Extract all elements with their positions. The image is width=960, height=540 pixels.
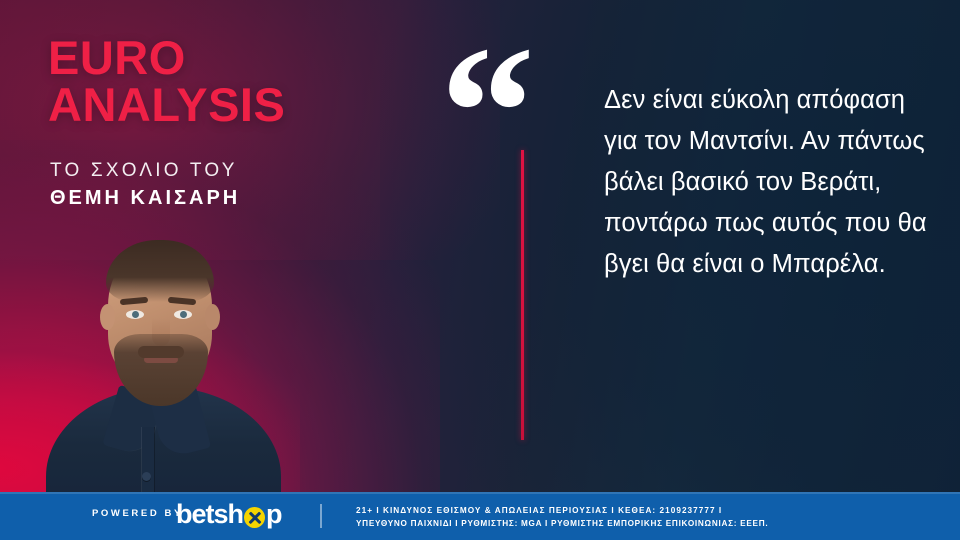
betshop-logo-text-end: p [266,499,282,530]
headline-block: EURO ANALYSIS [48,36,285,127]
headline-line-euro: EURO [48,36,285,81]
portrait-ear-left [100,304,115,330]
portrait-pupil-left [132,311,139,318]
footer-divider [320,504,322,528]
subtitle-line-1: ΤΟ ΣΧΟΛΙΟ ΤΟΥ [50,160,240,182]
vertical-accent-rule [521,150,524,440]
footer-top-edge [0,492,960,494]
subtitle-line-2: ΘΕΜΗ ΚΑΙΣΑΡΗ [50,187,240,210]
quote-text: Δεν είναι εύκολη απόφαση για τον Μαντσίν… [604,80,934,285]
subtitle-block: ΤΟ ΣΧΟΛΙΟ ΤΟΥ ΘΕΜΗ ΚΑΙΣΑΡΗ [50,160,240,210]
presenter-portrait [36,222,288,492]
headline-line-analysis: ANALYSIS [48,83,285,128]
powered-by-label: POWERED BY [92,508,183,519]
euro-analysis-quote-card: EURO ANALYSIS ΤΟ ΣΧΟΛΙΟ ΤΟΥ ΘΕΜΗ ΚΑΙΣΑΡΗ… [0,0,960,540]
disclaimer-line-2: ΥΠΕΥΘΥΝΟ ΠΑΙΧΝΙΔΙ Ι ΡΥΘΜΙΣΤΗΣ: MGA Ι ΡΥΘ… [356,517,768,530]
portrait-shirt-placket [142,427,154,492]
betshop-logo-text-start: betsh [176,499,243,530]
disclaimer-line-1: 21+ Ι ΚΙΝΔΥΝΟΣ ΕΘΙΣΜΟΥ & ΑΠΩΛΕΙΑΣ ΠΕΡΙΟΥ… [356,504,768,517]
regulatory-disclaimer: 21+ Ι ΚΙΝΔΥΝΟΣ ΕΘΙΣΜΟΥ & ΑΠΩΛΕΙΑΣ ΠΕΡΙΟΥ… [356,504,768,530]
portrait-shirt-button [142,472,151,481]
portrait-ear-right [205,304,220,330]
portrait-moustache [138,346,184,358]
footer-bar: POWERED BY betsh p 21+ Ι ΚΙΝΔΥΝΟΣ ΕΘΙΣΜΟ… [0,492,960,540]
x-circle-icon [244,507,265,528]
quote-mark-icon: “ [440,18,529,208]
portrait-hair [106,240,214,302]
betshop-logo[interactable]: betsh p [176,499,282,530]
portrait-pupil-right [180,311,187,318]
